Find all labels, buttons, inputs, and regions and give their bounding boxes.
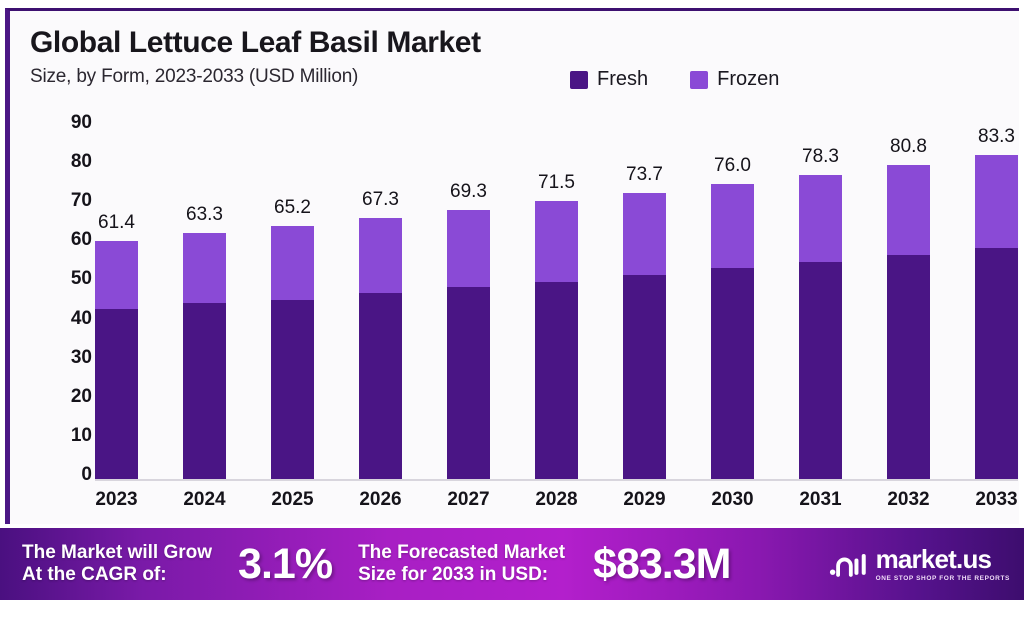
y-axis-tick: 10 bbox=[30, 425, 92, 447]
bar-total-label: 71.5 bbox=[538, 172, 575, 194]
forecast-value: $83.3M bbox=[593, 540, 730, 589]
axis-baseline bbox=[95, 479, 1018, 481]
bar-segment-fresh[interactable] bbox=[183, 303, 226, 481]
x-axis-tick: 2026 bbox=[359, 489, 402, 519]
bar-segment-fresh[interactable] bbox=[95, 309, 138, 481]
market-us-logo-icon bbox=[829, 550, 869, 578]
logo-tagline: ONE STOP SHOP FOR THE REPORTS bbox=[876, 575, 1010, 582]
bar-column[interactable]: 63.3 bbox=[183, 129, 226, 481]
x-axis-tick: 2030 bbox=[711, 489, 754, 519]
legend-label-fresh: Fresh bbox=[597, 68, 648, 91]
bar-column[interactable]: 71.5 bbox=[535, 129, 578, 481]
legend-item-fresh[interactable]: Fresh bbox=[570, 68, 648, 91]
bar-segment-frozen[interactable] bbox=[799, 175, 842, 262]
infographic-root: Global Lettuce Leaf Basil Market Size, b… bbox=[0, 0, 1024, 624]
bar-segment-frozen[interactable] bbox=[887, 165, 930, 255]
bar-segment-frozen[interactable] bbox=[95, 241, 138, 309]
market-us-logo[interactable]: market.us ONE STOP SHOP FOR THE REPORTS bbox=[829, 546, 1010, 582]
bar-total-label: 76.0 bbox=[714, 155, 751, 177]
x-axis-tick: 2023 bbox=[95, 489, 138, 519]
bar-segment-frozen[interactable] bbox=[975, 155, 1018, 248]
y-axis-tick: 30 bbox=[30, 347, 92, 369]
bar-column[interactable]: 73.7 bbox=[623, 129, 666, 481]
legend-label-frozen: Frozen bbox=[717, 68, 779, 91]
bar-segment-frozen[interactable] bbox=[271, 226, 314, 300]
x-axis-tick: 2029 bbox=[623, 489, 666, 519]
bar-group: 61.463.365.267.369.371.573.776.078.380.8… bbox=[95, 129, 1018, 481]
bar-total-label: 83.3 bbox=[978, 126, 1015, 148]
legend-swatch-fresh bbox=[570, 71, 588, 89]
header: Global Lettuce Leaf Basil Market Size, b… bbox=[30, 26, 481, 88]
bar-segment-fresh[interactable] bbox=[887, 255, 930, 481]
y-axis-tick: 50 bbox=[30, 268, 92, 290]
logo-name: market.us bbox=[876, 546, 1010, 572]
x-axis-tick: 2025 bbox=[271, 489, 314, 519]
bar-column[interactable]: 80.8 bbox=[887, 129, 930, 481]
y-axis: 9080706050403020100 bbox=[30, 123, 92, 481]
bar-segment-frozen[interactable] bbox=[623, 193, 666, 275]
cagr-label: The Market will Grow At the CAGR of: bbox=[22, 542, 212, 586]
chart-legend: Fresh Frozen bbox=[570, 68, 779, 91]
bar-segment-fresh[interactable] bbox=[975, 248, 1018, 481]
y-axis-tick: 0 bbox=[30, 464, 92, 486]
bar-segment-fresh[interactable] bbox=[623, 275, 666, 481]
page-title: Global Lettuce Leaf Basil Market bbox=[30, 26, 481, 60]
y-axis-tick: 60 bbox=[30, 229, 92, 251]
bar-segment-fresh[interactable] bbox=[447, 287, 490, 481]
footer-banner: The Market will Grow At the CAGR of: 3.1… bbox=[0, 528, 1024, 600]
bar-column[interactable]: 69.3 bbox=[447, 129, 490, 481]
legend-item-frozen[interactable]: Frozen bbox=[690, 68, 779, 91]
y-axis-tick: 40 bbox=[30, 308, 92, 330]
cagr-label-line2: At the CAGR of: bbox=[22, 564, 212, 586]
x-axis-tick: 2027 bbox=[447, 489, 490, 519]
bar-total-label: 65.2 bbox=[274, 197, 311, 219]
y-axis-tick: 20 bbox=[30, 386, 92, 408]
x-axis-tick: 2028 bbox=[535, 489, 578, 519]
bar-segment-fresh[interactable] bbox=[271, 300, 314, 481]
y-axis-tick: 70 bbox=[30, 190, 92, 212]
x-axis-tick: 2024 bbox=[183, 489, 226, 519]
cagr-value: 3.1% bbox=[238, 540, 332, 589]
x-axis-tick: 2032 bbox=[887, 489, 930, 519]
page-subtitle: Size, by Form, 2023-2033 (USD Million) bbox=[30, 66, 481, 88]
forecast-label: The Forecasted Market Size for 2033 in U… bbox=[358, 542, 565, 586]
bar-segment-frozen[interactable] bbox=[183, 233, 226, 303]
bar-total-label: 73.7 bbox=[626, 164, 663, 186]
bar-total-label: 69.3 bbox=[450, 181, 487, 203]
legend-swatch-frozen bbox=[690, 71, 708, 89]
bar-column[interactable]: 67.3 bbox=[359, 129, 402, 481]
bar-segment-fresh[interactable] bbox=[359, 293, 402, 481]
x-axis: 2023202420252026202720282029203020312032… bbox=[95, 489, 1018, 519]
bar-total-label: 78.3 bbox=[802, 146, 839, 168]
forecast-label-line1: The Forecasted Market bbox=[358, 542, 565, 564]
x-axis-tick: 2033 bbox=[975, 489, 1018, 519]
cagr-label-line1: The Market will Grow bbox=[22, 542, 212, 564]
bar-segment-fresh[interactable] bbox=[799, 262, 842, 481]
y-axis-tick: 90 bbox=[30, 112, 92, 134]
bar-segment-frozen[interactable] bbox=[447, 210, 490, 287]
bar-total-label: 63.3 bbox=[186, 204, 223, 226]
y-axis-tick: 80 bbox=[30, 151, 92, 173]
x-axis-tick: 2031 bbox=[799, 489, 842, 519]
bar-column[interactable]: 83.3 bbox=[975, 129, 1018, 481]
bar-column[interactable]: 76.0 bbox=[711, 129, 754, 481]
bar-column[interactable]: 65.2 bbox=[271, 129, 314, 481]
bar-segment-frozen[interactable] bbox=[535, 201, 578, 281]
plot-area: 61.463.365.267.369.371.573.776.078.380.8… bbox=[95, 129, 1018, 481]
bar-total-label: 67.3 bbox=[362, 189, 399, 211]
bar-segment-frozen[interactable] bbox=[711, 184, 754, 268]
bar-total-label: 61.4 bbox=[98, 212, 135, 234]
bar-segment-fresh[interactable] bbox=[535, 282, 578, 481]
bar-segment-frozen[interactable] bbox=[359, 218, 402, 293]
chart-card: Global Lettuce Leaf Basil Market Size, b… bbox=[5, 8, 1019, 524]
logo-text: market.us ONE STOP SHOP FOR THE REPORTS bbox=[876, 546, 1010, 582]
bar-column[interactable]: 61.4 bbox=[95, 129, 138, 481]
bar-total-label: 80.8 bbox=[890, 136, 927, 158]
bar-column[interactable]: 78.3 bbox=[799, 129, 842, 481]
forecast-label-line2: Size for 2033 in USD: bbox=[358, 564, 565, 586]
bar-segment-fresh[interactable] bbox=[711, 268, 754, 481]
